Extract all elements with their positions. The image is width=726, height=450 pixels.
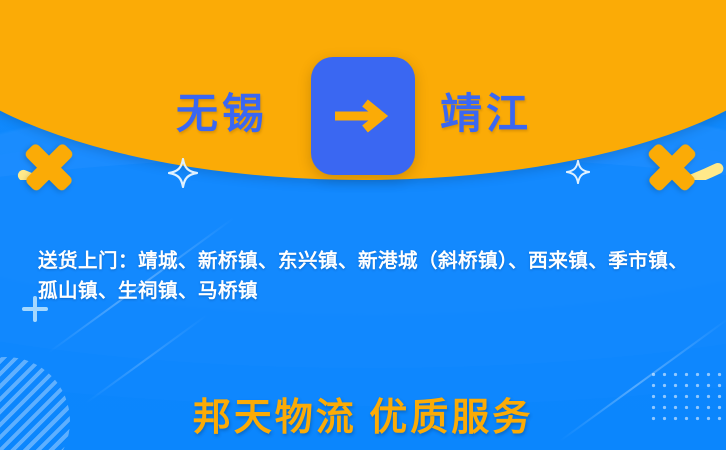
destination-city-label: 靖江 xyxy=(440,92,532,138)
arrow-right-icon xyxy=(331,94,395,138)
logistics-route-banner: 无锡 靖江 送货上门：靖城、新桥镇、东兴镇、新港城（斜桥镇）、西来镇、季市镇、孤… xyxy=(0,0,726,450)
route-arrow-card xyxy=(311,57,415,175)
company-slogan: 邦天物流 优质服务 xyxy=(0,386,726,441)
origin-city-label: 无锡 xyxy=(176,92,268,138)
delivery-coverage-text: 送货上门：靖城、新桥镇、东兴镇、新港城（斜桥镇）、西来镇、季市镇、孤山镇、生祠镇… xyxy=(38,247,698,307)
